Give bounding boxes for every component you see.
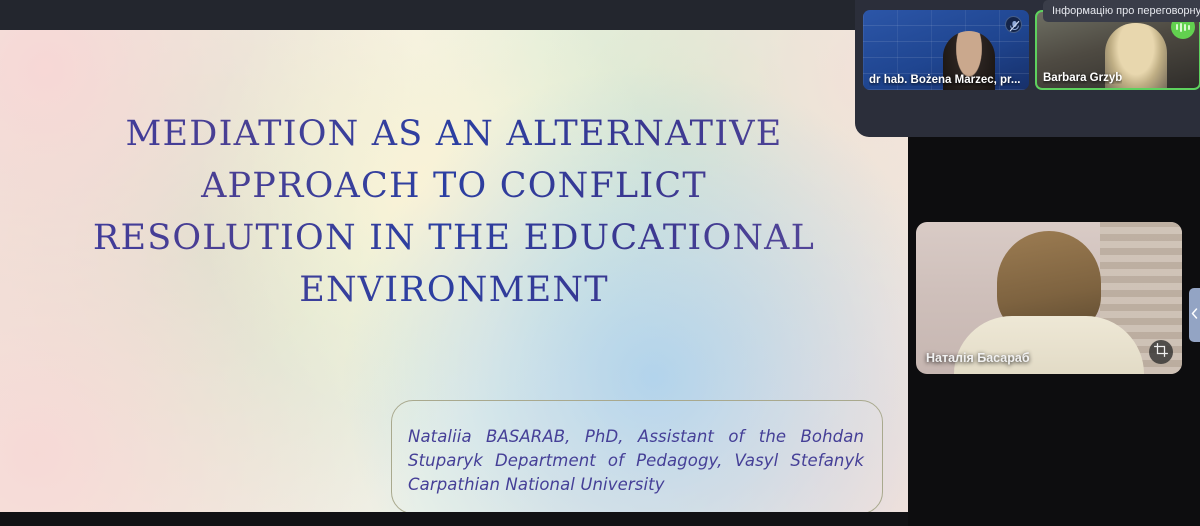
speaker-video-tile[interactable]: Наталія Басараб — [916, 222, 1182, 374]
collapse-panel-handle[interactable] — [1189, 288, 1200, 342]
room-info-tooltip: Інформацію про переговорну — [1043, 0, 1200, 22]
conference-screen: MEDIATION AS AN ALTERNATIVE APPROACH TO … — [0, 0, 1200, 526]
speaker-name-label: Наталія Басараб — [926, 351, 1030, 365]
chevron-left-icon — [1191, 306, 1198, 324]
participant-1-name: dr hab. Bożena Marzec, pr... — [869, 74, 1020, 86]
crop-icon — [1154, 343, 1168, 362]
shared-slide[interactable]: MEDIATION AS AN ALTERNATIVE APPROACH TO … — [0, 30, 908, 512]
slide-author-box: Nataliia BASARAB, PhD, Assistant of the … — [391, 400, 883, 512]
slide-title: MEDIATION AS AN ALTERNATIVE APPROACH TO … — [54, 108, 854, 316]
crop-video-button[interactable] — [1149, 340, 1173, 364]
participant-thumbnail-2[interactable]: Barbara Grzyb — [1035, 10, 1200, 90]
slide-author-text: Nataliia BASARAB, PhD, Assistant of the … — [408, 425, 864, 497]
slide-bottom-strip — [0, 512, 908, 526]
muted-mic-badge-icon — [1005, 16, 1022, 33]
speaker-body — [954, 316, 1144, 374]
participant-2-name: Barbara Grzyb — [1043, 72, 1122, 84]
participant-thumbnail-1[interactable]: dr hab. Bożena Marzec, pr... — [863, 10, 1029, 90]
